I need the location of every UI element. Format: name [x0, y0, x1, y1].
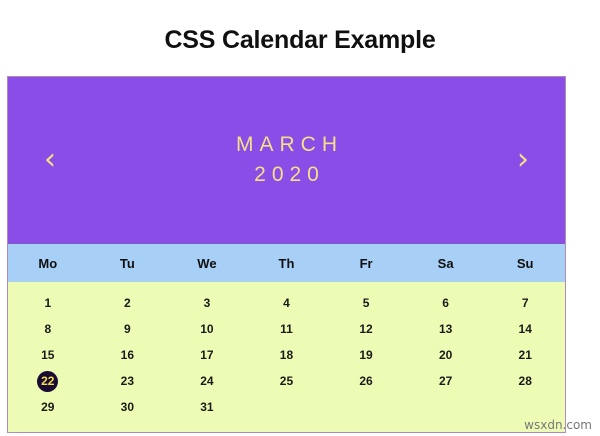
day-number: 20: [435, 345, 456, 366]
day-number: 1: [37, 293, 58, 314]
day-cell[interactable]: 9: [88, 316, 168, 342]
day-cell[interactable]: 11: [247, 316, 327, 342]
day-cell[interactable]: 30: [88, 394, 168, 420]
day-number: 25: [276, 371, 297, 392]
day-number: 15: [37, 345, 58, 366]
weekday-label-mo: Mo: [8, 256, 88, 271]
day-number: 14: [515, 319, 536, 340]
day-cell[interactable]: 5: [326, 290, 406, 316]
day-cell[interactable]: 31: [167, 394, 247, 420]
day-cell[interactable]: 27: [406, 368, 486, 394]
day-cell[interactable]: 22: [8, 368, 88, 394]
day-cell[interactable]: 19: [326, 342, 406, 368]
day-cell[interactable]: 18: [247, 342, 327, 368]
chevron-left-icon[interactable]: ‹: [30, 145, 70, 175]
day-number: 31: [196, 397, 217, 418]
weekday-label-we: We: [167, 256, 247, 271]
day-cell[interactable]: 25: [247, 368, 327, 394]
day-number: 3: [196, 293, 217, 314]
chevron-right-icon[interactable]: ›: [503, 145, 543, 175]
day-cell[interactable]: 26: [326, 368, 406, 394]
day-number: 21: [515, 345, 536, 366]
day-cell[interactable]: 23: [88, 368, 168, 394]
day-cell[interactable]: 7: [485, 290, 565, 316]
day-number: 18: [276, 345, 297, 366]
weekday-label-tu: Tu: [88, 256, 168, 271]
day-number: 19: [356, 345, 377, 366]
day-number: 30: [117, 397, 138, 418]
watermark: wsxdn.com: [524, 418, 592, 432]
weekday-label-th: Th: [247, 256, 327, 271]
day-number: 5: [356, 293, 377, 314]
day-number: 29: [37, 397, 58, 418]
day-cell[interactable]: 2: [88, 290, 168, 316]
weekday-header-row: Mo Tu We Th Fr Sa Su: [8, 243, 565, 282]
day-number: 12: [356, 319, 377, 340]
selected-day-badge: 22: [37, 371, 58, 392]
day-cell[interactable]: 24: [167, 368, 247, 394]
year-label: 2020: [70, 160, 503, 190]
weekday-label-sa: Sa: [406, 256, 486, 271]
day-cell[interactable]: 16: [88, 342, 168, 368]
day-number: 16: [117, 345, 138, 366]
day-cell[interactable]: 6: [406, 290, 486, 316]
day-number: 24: [196, 371, 217, 392]
day-cell[interactable]: 20: [406, 342, 486, 368]
day-number: 28: [515, 371, 536, 392]
calendar-widget: ‹ MARCH 2020 › Mo Tu We Th Fr Sa Su 1234…: [7, 76, 566, 433]
day-cell[interactable]: 10: [167, 316, 247, 342]
calendar-header: ‹ MARCH 2020 ›: [8, 77, 565, 243]
day-number: 4: [276, 293, 297, 314]
day-cell[interactable]: 12: [326, 316, 406, 342]
weekday-label-fr: Fr: [326, 256, 406, 271]
day-number: 17: [196, 345, 217, 366]
day-cell[interactable]: 13: [406, 316, 486, 342]
day-number: 13: [435, 319, 456, 340]
day-number: 27: [435, 371, 456, 392]
day-cell[interactable]: 3: [167, 290, 247, 316]
day-grid: 1234567891011121314151617181920212223242…: [8, 282, 565, 432]
day-cell[interactable]: 8: [8, 316, 88, 342]
day-number: 11: [276, 319, 297, 340]
day-number: 23: [117, 371, 138, 392]
day-cell[interactable]: 17: [167, 342, 247, 368]
day-cell[interactable]: 21: [485, 342, 565, 368]
day-number: 6: [435, 293, 456, 314]
month-year-label: MARCH 2020: [70, 130, 503, 191]
day-number: 9: [117, 319, 138, 340]
day-cell[interactable]: 4: [247, 290, 327, 316]
day-cell[interactable]: 1: [8, 290, 88, 316]
day-cell[interactable]: 15: [8, 342, 88, 368]
day-number: 10: [196, 319, 217, 340]
day-number: 8: [37, 319, 58, 340]
month-label: MARCH: [70, 130, 503, 160]
weekday-label-su: Su: [485, 256, 565, 271]
day-number: 2: [117, 293, 138, 314]
day-cell[interactable]: 28: [485, 368, 565, 394]
day-number: 7: [515, 293, 536, 314]
day-cell[interactable]: 29: [8, 394, 88, 420]
page-title: CSS Calendar Example: [0, 0, 600, 55]
day-cell[interactable]: 14: [485, 316, 565, 342]
day-number: 26: [356, 371, 377, 392]
